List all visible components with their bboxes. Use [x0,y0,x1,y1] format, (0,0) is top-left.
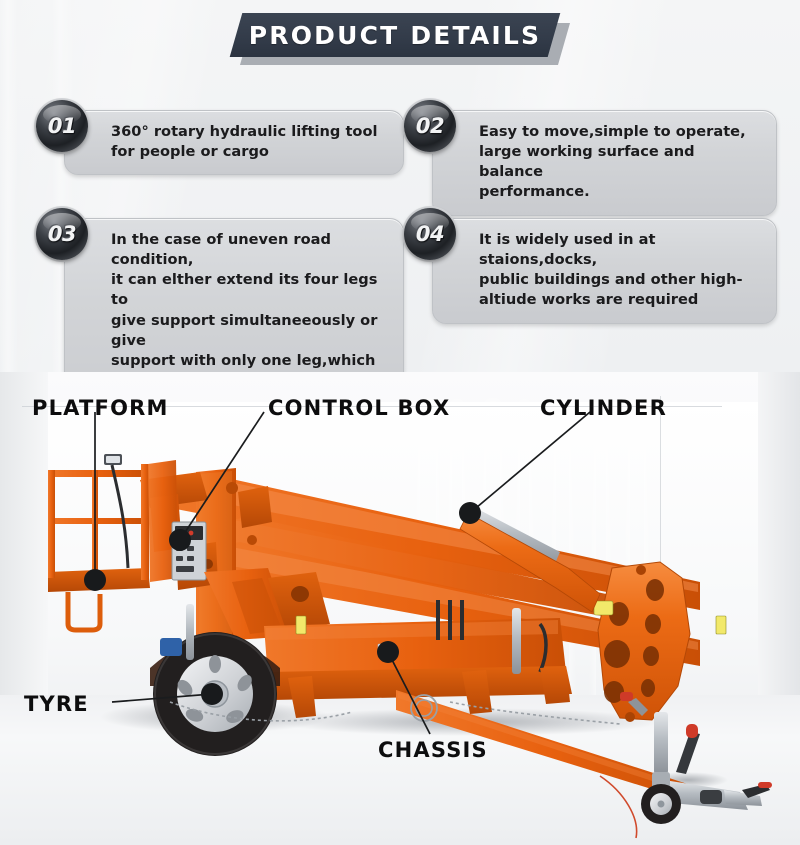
callout-label-cylinder: CYLINDER [540,396,667,420]
callout-dot-platform [84,569,106,591]
feature-text-04: It is widely used in at staions,docks, p… [479,230,762,311]
feature-number-02: 02 [416,114,444,138]
page-title-banner: PRODUCT DETAILS [236,13,576,65]
callout-line-cylinder [470,412,590,513]
feature-number-badge-01: 01 [36,100,88,152]
callout-dot-control-box [169,529,191,551]
callout-label-tyre: TYRE [24,692,89,716]
callout-dot-chassis [377,641,399,663]
product-details-infographic: PRODUCT DETAILS 360° rotary hydraulic li… [0,0,800,845]
callout-label-chassis: CHASSIS [378,738,488,762]
feature-list: 360° rotary hydraulic lifting tool for p… [0,96,800,356]
feature-text-02: Easy to move,simple to operate, large wo… [479,122,762,203]
feature-number-badge-02: 02 [404,100,456,152]
callout-label-platform: PLATFORM [32,396,169,420]
feature-text-01: 360° rotary hydraulic lifting tool for p… [111,122,389,162]
product-photo [0,372,800,845]
callout-label-control-box: CONTROL BOX [268,396,450,420]
callout-overlay [0,372,800,845]
page-title: PRODUCT DETAILS [236,13,554,57]
feature-card-02: Easy to move,simple to operate, large wo… [432,110,777,216]
feature-number-04: 04 [416,222,444,246]
callout-line-chassis [388,652,430,734]
feature-card-04: It is widely used in at staions,docks, p… [432,218,777,324]
feature-number-badge-04: 04 [404,208,456,260]
callout-dot-tyre [201,683,223,705]
callout-line-control-box [180,412,264,540]
feature-card-01: 360° rotary hydraulic lifting tool for p… [64,110,404,175]
feature-number-badge-03: 03 [36,208,88,260]
callout-dot-cylinder [459,502,481,524]
callout-line-tyre [112,694,212,702]
feature-number-03: 03 [48,222,76,246]
feature-number-01: 01 [48,114,76,138]
